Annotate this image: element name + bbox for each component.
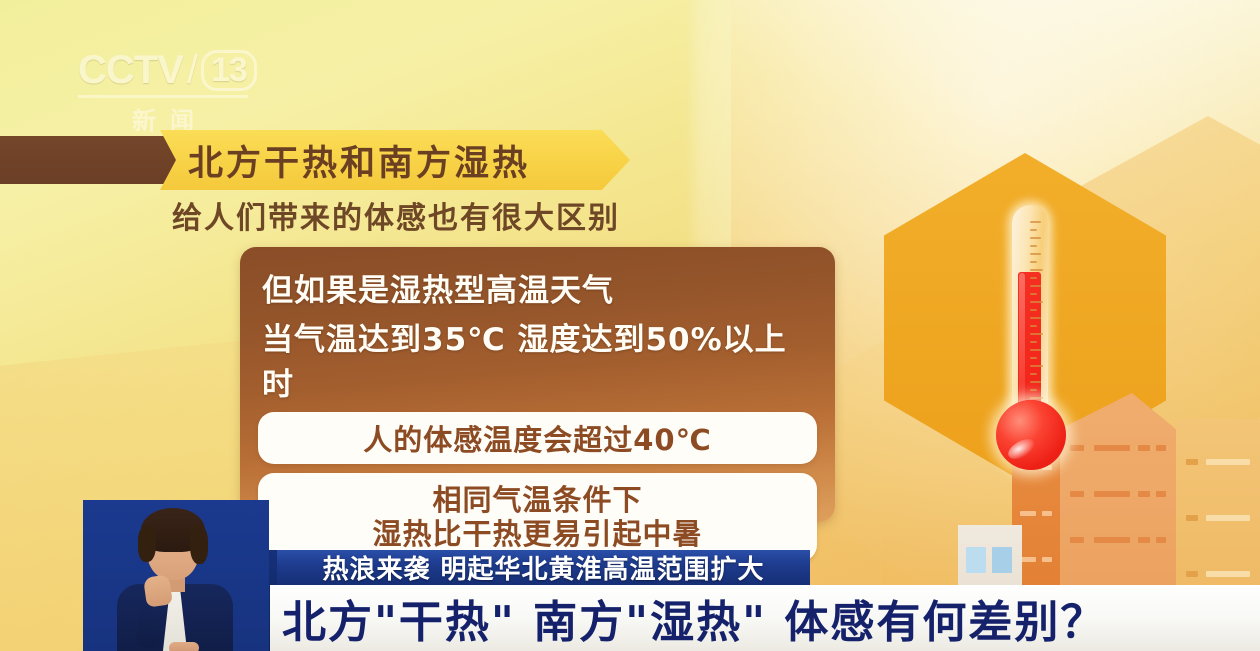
interpreter-hair-right (190, 526, 208, 564)
panel-line-1: 但如果是湿热型高温天气 (262, 265, 817, 310)
panel-callout-box-1: 人的体感温度会超过40℃ (258, 412, 817, 464)
thermometer-bulb (996, 400, 1066, 470)
panel-callout-2-line-1: 相同气温条件下 (432, 483, 642, 517)
panel-line-2: 当气温达到35℃ 湿度达到50%以上时 (262, 314, 817, 404)
cctv-channel-logo: CCTV / 13 新闻 (78, 48, 248, 126)
banner-subtitle: 给人们带来的体感也有很大区别 (172, 193, 620, 237)
chyron-headline-text: 北方"干热" 南方"湿热" 体感有何差别？ (282, 586, 1106, 650)
thermometer-scale-ticks (1030, 217, 1049, 417)
logo-text: CCTV (78, 48, 183, 93)
banner-title-plate: 北方干热和南方湿热 (160, 130, 630, 190)
panel-callout-box-2: 相同气温条件下 湿热比干热更易引起中暑 (258, 473, 817, 561)
interpreter-hair-left (138, 526, 156, 562)
banner-brown-tail (0, 136, 196, 184)
logo-slash-icon: / (187, 48, 197, 93)
thermometer-icon (983, 205, 1077, 495)
chyron-headline-bar: 北方"干热" 南方"湿热" 体感有何差别？ (270, 585, 1260, 651)
logo-row-primary: CCTV / 13 (78, 48, 248, 93)
logo-channel-number: 13 (201, 50, 257, 92)
banner-title: 北方干热和南方湿热 (188, 135, 530, 186)
logo-divider (78, 95, 248, 98)
panel-callout-2-line-2: 湿热比干热更易引起中暑 (372, 517, 702, 551)
chyron-topic-bar: 热浪来袭 明起华北黄淮高温范围扩大 (277, 550, 810, 585)
content-panel: 但如果是湿热型高温天气 当气温达到35℃ 湿度达到50%以上时 人的体感温度会超… (240, 247, 835, 522)
panel-callout-1-text: 人的体感温度会超过40℃ (363, 417, 711, 459)
chyron-topic-text: 热浪来袭 明起华北黄淮高温范围扩大 (322, 549, 764, 586)
broadcast-screen: CCTV / 13 新闻 北方干热和南方湿热 给人们带来的体感也有很大区别 但如… (0, 0, 1260, 651)
